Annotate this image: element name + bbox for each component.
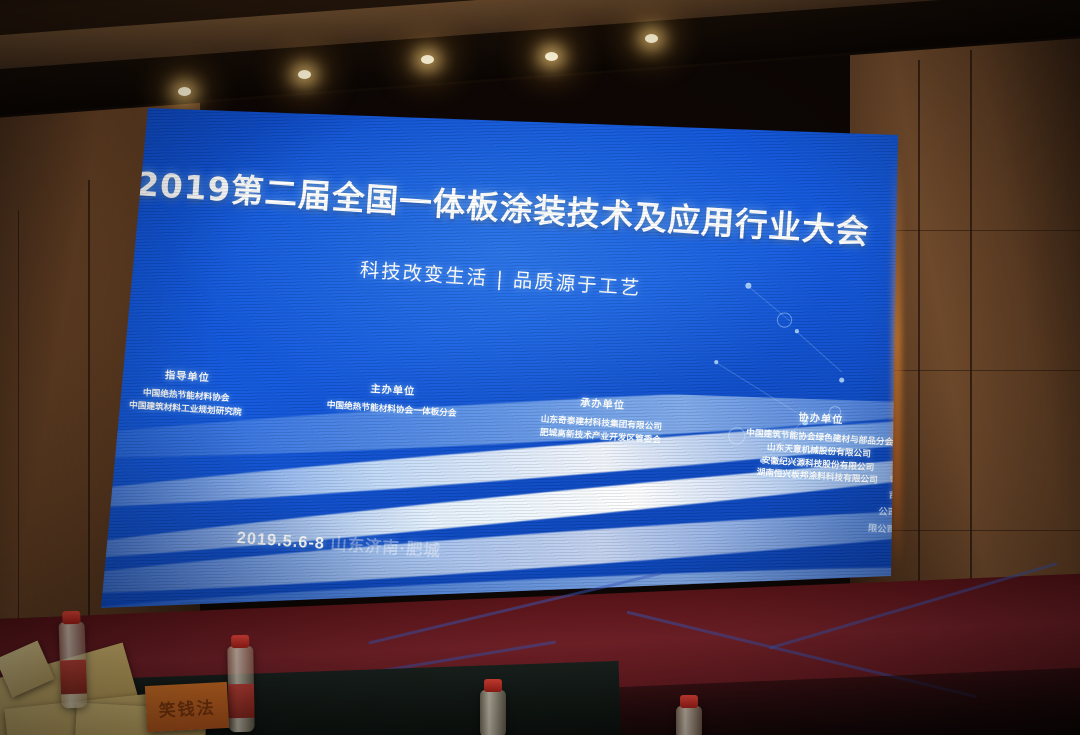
organizer-column: 承办单位 山东奇泰建材科技集团有限公司 肥城高新技术产业开发区管委会 — [538, 391, 664, 472]
wall-seam — [18, 210, 19, 680]
screen-edge-glow — [892, 150, 902, 570]
led-screen: 2019第二届全国一体板涂装技术及应用行业大会 科技改变生活 | 品质源于工艺 … — [98, 108, 898, 608]
spotlight-icon — [421, 55, 434, 64]
name-card-text: 笑钱法 — [158, 693, 216, 721]
conference-hall-photo: 2019第二届全国一体板涂装技术及应用行业大会 科技改变生活 | 品质源于工艺 … — [0, 0, 1080, 735]
spotlight-icon — [545, 52, 558, 61]
bottle-cap — [62, 611, 80, 625]
bottle-label — [60, 660, 87, 695]
bottle-cap — [231, 635, 249, 648]
particle-dot — [839, 377, 844, 382]
water-bottle — [59, 622, 88, 709]
bottle-cap — [680, 695, 698, 708]
bottle-cap — [484, 679, 502, 692]
bottle-label — [228, 684, 255, 718]
name-card: 笑钱法 — [145, 682, 229, 732]
screen-content: 2019第二届全国一体板涂装技术及应用行业大会 科技改变生活 | 品质源于工艺 … — [98, 108, 898, 608]
water-bottle — [480, 690, 506, 735]
spotlight-icon — [178, 87, 191, 96]
wall-seam — [88, 180, 90, 680]
water-bottle — [227, 646, 254, 732]
organizer-column: 主办单位 中国绝热节能材料协会一体板分会 — [324, 377, 459, 459]
water-bottle — [676, 706, 702, 735]
organizer-name: 中国绝热节能材料协会一体板分会 — [326, 398, 457, 420]
organizer-column: 指导单位 中国绝热节能材料协会 中国建筑材料工业规划研究院 — [127, 364, 244, 445]
spotlight-icon — [645, 34, 658, 43]
spotlight-icon — [298, 70, 311, 79]
